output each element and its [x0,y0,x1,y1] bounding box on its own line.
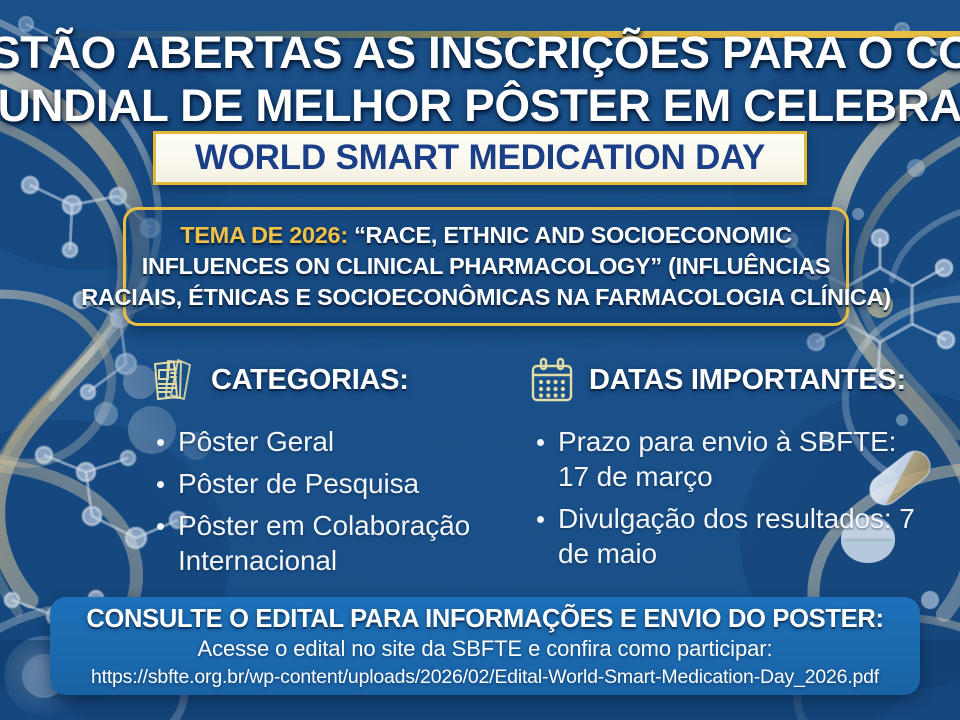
headline-line-2: MUNDIAL DE MELHOR PÔSTER EM CELEBRAÇÃO A… [0,79,960,132]
list-item: Divulgação dos resultados: 7 de maio [528,501,928,571]
footer-instruction: Acesse o edital no site da SBFTE e confi… [198,634,773,664]
dates-section: DATAS IMPORTANTES: Prazo para envio à SB… [528,352,928,578]
theme-year-label: TEMA DE 2026: [180,222,348,248]
headline: ESTÃO ABERTAS AS INSCRIÇÕES PARA O CONCU… [0,26,960,132]
list-item: Pôster em Colaboração Internacional [148,508,518,578]
footer-cta-banner: CONSULTE O EDITAL PARA INFORMAÇÕES E ENV… [50,597,920,695]
categories-section: CATEGORIAS: Pôster Geral Pôster de Pesqu… [148,352,518,585]
list-item: Prazo para envio à SBFTE: 17 de março [528,424,928,494]
list-item: Pôster de Pesquisa [148,466,518,501]
headline-line-1: ESTÃO ABERTAS AS INSCRIÇÕES PARA O CONCU… [0,26,960,79]
list-item: Pôster Geral [148,424,518,459]
theme-box: TEMA DE 2026: “RACE, ETHNIC AND SOCIOECO… [123,207,849,326]
categories-header: CATEGORIAS: [148,352,518,408]
documents-icon [148,355,198,405]
theme-line-2: INFLUENCES ON CLINICAL PHARMACOLOGY” (IN… [142,251,831,282]
theme-line-3: RACIAIS, ÉTNICAS E SOCIOECONÔMICAS NA FA… [81,282,891,313]
event-name-banner: WORLD SMART MEDICATION DAY [153,131,807,185]
event-name-text: WORLD SMART MEDICATION DAY [195,138,765,178]
dates-header: DATAS IMPORTANTES: [528,352,928,408]
footer-call-to-action: CONSULTE O EDITAL PARA INFORMAÇÕES E ENV… [86,604,883,634]
categories-title: CATEGORIAS: [211,364,409,397]
dates-title: DATAS IMPORTANTES: [589,364,906,397]
dates-list: Prazo para envio à SBFTE: 17 de março Di… [528,424,928,571]
theme-line-1: TEMA DE 2026: “RACE, ETHNIC AND SOCIOECO… [180,220,792,251]
footer-edital-url[interactable]: https://sbfte.org.br/wp-content/uploads/… [91,664,879,691]
poster-root: ESTÃO ABERTAS AS INSCRIÇÕES PARA O CONCU… [0,0,960,720]
categories-list: Pôster Geral Pôster de Pesquisa Pôster e… [148,424,518,578]
theme-line-1-rest: “RACE, ETHNIC AND SOCIOECONOMIC [348,222,792,248]
calendar-icon [528,356,576,404]
